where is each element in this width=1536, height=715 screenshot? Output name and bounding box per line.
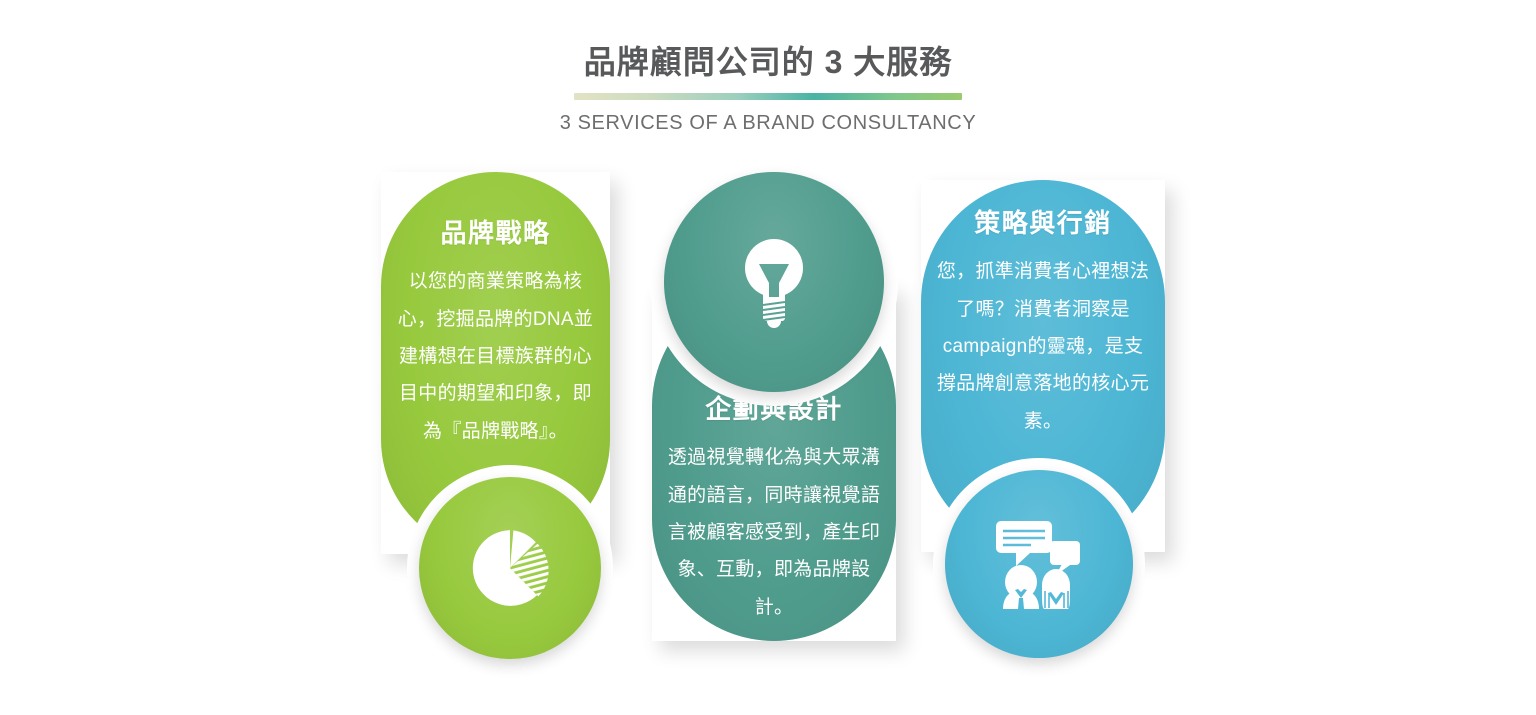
infographic-page: 品牌顧問公司的 3 大服務 3 SERVICES OF A BRAND CONS… bbox=[0, 0, 1536, 715]
card-description-marketing: 您，抓準消費者心裡想法了嗎？消費者洞察是campaign的靈魂，是支撐品牌創意落… bbox=[935, 253, 1151, 440]
service-cards: 品牌戰略 以您的商業策略為核心，挖掘品牌的DNA並建構想在目標族群的心目中的期望… bbox=[0, 0, 1536, 715]
card-description-strategy: 以您的商業策略為核心，挖掘品牌的DNA並建構想在目標族群的心目中的期望和印象，即… bbox=[395, 263, 596, 450]
badge-planning[interactable] bbox=[664, 172, 884, 392]
card-description-planning: 透過視覺轉化為與大眾溝通的語言，同時讓視覺語言被顧客感受到，產生印象、互動，即為… bbox=[666, 439, 882, 626]
pie-chart-icon bbox=[467, 525, 553, 611]
badge-strategy[interactable] bbox=[419, 477, 601, 659]
card-heading-marketing: 策略與行銷 bbox=[935, 208, 1151, 239]
people-chat-icon bbox=[990, 519, 1088, 609]
card-text-planning: 企劃與設計 透過視覺轉化為與大眾溝通的語言，同時讓視覺語言被顧客感受到，產生印象… bbox=[652, 394, 896, 626]
card-heading-strategy: 品牌戰略 bbox=[395, 218, 596, 249]
card-text-strategy: 品牌戰略 以您的商業策略為核心，挖掘品牌的DNA並建構想在目標族群的心目中的期望… bbox=[381, 218, 610, 450]
lightbulb-icon bbox=[737, 235, 811, 329]
card-text-marketing: 策略與行銷 您，抓準消費者心裡想法了嗎？消費者洞察是campaign的靈魂，是支… bbox=[921, 208, 1165, 440]
badge-marketing[interactable] bbox=[945, 470, 1133, 658]
